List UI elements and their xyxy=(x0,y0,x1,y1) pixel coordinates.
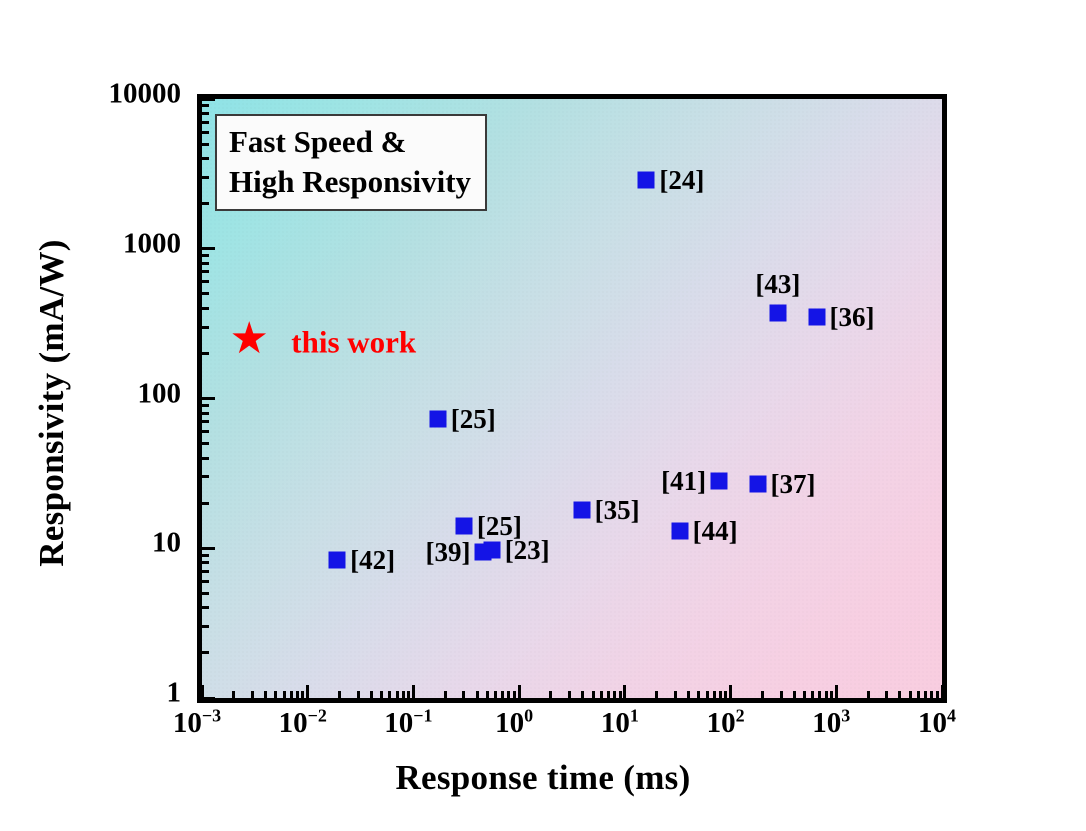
x-tick-minor xyxy=(619,691,622,698)
y-tick-minor xyxy=(202,202,209,205)
x-tick-minor xyxy=(290,691,293,698)
x-tick-major xyxy=(835,685,838,698)
x-tick-label: 10−3 xyxy=(173,709,221,738)
x-tick-minor xyxy=(930,691,933,698)
y-tick-minor xyxy=(202,104,209,107)
x-tick-minor xyxy=(600,691,603,698)
x-tick-label: 104 xyxy=(918,709,956,738)
y-tick-minor xyxy=(202,475,209,478)
y-tick-minor xyxy=(202,176,209,179)
x-tick-minor xyxy=(674,691,677,698)
data-point-marker xyxy=(749,475,766,492)
x-tick-major xyxy=(729,685,732,698)
x-tick-minor xyxy=(818,691,821,698)
x-tick-minor xyxy=(803,691,806,698)
y-tick-minor xyxy=(202,502,209,505)
y-tick-minor xyxy=(202,580,209,583)
y-tick-minor xyxy=(202,420,209,423)
this-work-star-icon: ★ xyxy=(230,317,269,361)
y-tick-minor xyxy=(202,592,209,595)
y-tick-label: 10 xyxy=(0,529,181,558)
annotation-line-2: High Responsivity xyxy=(229,162,471,202)
x-tick-minor xyxy=(232,691,235,698)
data-point-marker xyxy=(638,171,655,188)
x-tick-minor xyxy=(338,691,341,698)
x-tick-minor xyxy=(924,691,927,698)
y-tick-major xyxy=(202,98,215,101)
x-tick-label: 103 xyxy=(812,709,850,738)
x-tick-minor xyxy=(724,691,727,698)
data-point-marker xyxy=(573,502,590,519)
x-tick-minor xyxy=(761,691,764,698)
x-tick-label: 10−2 xyxy=(279,709,327,738)
x-tick-minor xyxy=(283,691,286,698)
y-tick-minor xyxy=(202,625,209,628)
x-tick-minor xyxy=(568,691,571,698)
data-point-marker xyxy=(455,518,472,535)
y-tick-minor xyxy=(202,131,209,134)
y-tick-minor xyxy=(202,280,209,283)
x-tick-minor xyxy=(370,691,373,698)
data-point-label: [39] xyxy=(426,539,471,566)
x-tick-minor xyxy=(607,691,610,698)
x-tick-minor xyxy=(494,691,497,698)
y-tick-minor xyxy=(202,121,209,124)
y-tick-minor xyxy=(202,442,209,445)
x-tick-minor xyxy=(719,691,722,698)
this-work-label: this work xyxy=(291,326,416,357)
x-tick-minor xyxy=(780,691,783,698)
x-tick-minor xyxy=(462,691,465,698)
x-tick-major xyxy=(306,685,309,698)
x-tick-label: 101 xyxy=(601,709,639,738)
data-point-label: [41] xyxy=(661,468,706,495)
x-tick-major xyxy=(941,685,944,698)
y-tick-minor xyxy=(202,606,209,609)
x-tick-minor xyxy=(388,691,391,698)
x-tick-minor xyxy=(296,691,299,698)
y-tick-label: 1000 xyxy=(0,229,181,258)
y-tick-minor xyxy=(202,307,209,310)
y-tick-minor xyxy=(202,554,209,557)
figure-canvas: Responsivity (mA/W) Response time (ms) 1… xyxy=(0,0,1086,831)
y-tick-minor xyxy=(202,262,209,265)
x-tick-minor xyxy=(825,691,828,698)
x-tick-minor xyxy=(396,691,399,698)
y-tick-minor xyxy=(202,412,209,415)
plot-frame: Fast Speed & High Responsivity [42][25][… xyxy=(197,94,947,703)
data-point-marker xyxy=(671,523,688,540)
x-tick-major xyxy=(518,685,521,698)
x-tick-minor xyxy=(380,691,383,698)
y-tick-minor xyxy=(202,352,209,355)
data-point-marker xyxy=(483,541,500,558)
x-tick-minor xyxy=(613,691,616,698)
x-tick-major xyxy=(623,685,626,698)
x-tick-minor xyxy=(697,691,700,698)
x-tick-minor xyxy=(713,691,716,698)
x-tick-label: 102 xyxy=(707,709,745,738)
x-tick-minor xyxy=(917,691,920,698)
y-tick-minor xyxy=(202,404,209,407)
data-point-label: [24] xyxy=(659,167,704,194)
data-point-label: [43] xyxy=(755,271,800,298)
y-tick-major xyxy=(202,397,215,400)
x-tick-minor xyxy=(476,691,479,698)
data-point-marker xyxy=(429,410,446,427)
x-tick-minor xyxy=(274,691,277,698)
x-axis-title: Response time (ms) xyxy=(0,758,1086,798)
x-tick-major xyxy=(412,685,415,698)
annotation-textbox: Fast Speed & High Responsivity xyxy=(215,114,487,211)
x-tick-minor xyxy=(811,691,814,698)
y-tick-label: 1 xyxy=(0,679,181,708)
data-point-label: [36] xyxy=(830,304,875,331)
annotation-line-1: Fast Speed & xyxy=(229,122,471,162)
x-tick-label: 10−1 xyxy=(384,709,432,738)
x-tick-minor xyxy=(909,691,912,698)
y-tick-minor xyxy=(202,254,209,257)
x-tick-minor xyxy=(592,691,595,698)
y-tick-minor xyxy=(202,270,209,273)
data-point-label: [23] xyxy=(505,537,550,564)
x-tick-minor xyxy=(507,691,510,698)
x-tick-minor xyxy=(936,691,939,698)
x-tick-minor xyxy=(655,691,658,698)
y-tick-minor xyxy=(202,292,209,295)
data-point-label: [37] xyxy=(771,471,816,498)
x-tick-minor xyxy=(706,691,709,698)
x-tick-minor xyxy=(301,691,304,698)
y-tick-minor xyxy=(202,570,209,573)
x-tick-minor xyxy=(501,691,504,698)
x-tick-minor xyxy=(885,691,888,698)
x-tick-minor xyxy=(264,691,267,698)
x-tick-label: 100 xyxy=(495,709,533,738)
x-tick-minor xyxy=(357,691,360,698)
y-tick-minor xyxy=(202,430,209,433)
data-point-marker xyxy=(711,473,728,490)
x-tick-minor xyxy=(898,691,901,698)
y-tick-minor xyxy=(202,651,209,654)
data-point-label: [42] xyxy=(350,547,395,574)
y-tick-minor xyxy=(202,326,209,329)
y-tick-major xyxy=(202,547,215,550)
data-point-label: [44] xyxy=(693,518,738,545)
y-tick-major xyxy=(202,697,215,700)
y-tick-minor xyxy=(202,143,209,146)
y-tick-label: 10000 xyxy=(0,80,181,109)
data-point-label: [35] xyxy=(595,497,640,524)
x-tick-minor xyxy=(549,691,552,698)
y-tick-minor xyxy=(202,561,209,564)
x-tick-minor xyxy=(581,691,584,698)
y-tick-minor xyxy=(202,112,209,115)
x-tick-minor xyxy=(444,691,447,698)
x-tick-minor xyxy=(251,691,254,698)
x-tick-minor xyxy=(687,691,690,698)
x-tick-minor xyxy=(793,691,796,698)
data-point-marker xyxy=(329,552,346,569)
data-point-marker xyxy=(769,305,786,322)
y-tick-label: 100 xyxy=(0,379,181,408)
x-tick-minor xyxy=(407,691,410,698)
x-tick-minor xyxy=(867,691,870,698)
x-tick-minor xyxy=(486,691,489,698)
x-tick-minor xyxy=(513,691,516,698)
x-tick-minor xyxy=(402,691,405,698)
x-tick-minor xyxy=(830,691,833,698)
y-tick-major xyxy=(202,247,215,250)
y-tick-minor xyxy=(202,457,209,460)
data-point-marker xyxy=(808,309,825,326)
data-point-label: [25] xyxy=(451,406,496,433)
y-tick-minor xyxy=(202,157,209,160)
